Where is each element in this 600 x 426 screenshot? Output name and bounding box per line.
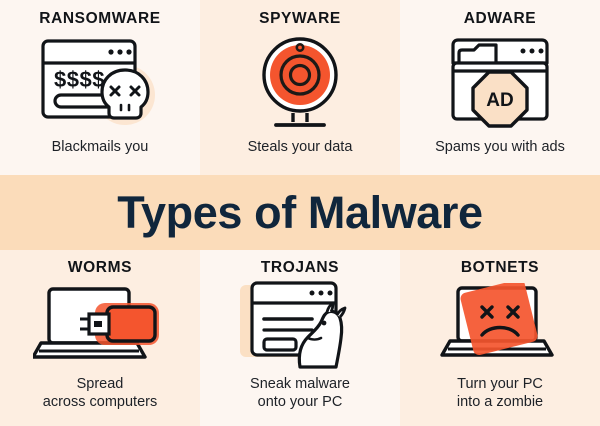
webcam-icon bbox=[200, 27, 400, 140]
caption-line-1: Sneak malware bbox=[250, 376, 350, 392]
card-caption: Turn your PC into a zombie bbox=[451, 376, 549, 412]
top-row: RANSOMWARE $$$$ bbox=[0, 0, 600, 175]
caption-line-2: across computers bbox=[43, 394, 157, 410]
card-adware: ADWARE AD Spams you with ads bbox=[400, 0, 600, 175]
card-ransomware: RANSOMWARE $$$$ bbox=[0, 0, 200, 175]
caption-line-1: Turn your PC bbox=[457, 376, 543, 392]
card-title: RANSOMWARE bbox=[39, 11, 160, 27]
browser-trojan-horse-icon bbox=[200, 276, 400, 377]
title-band: Types of Malware bbox=[0, 175, 600, 250]
card-title: ADWARE bbox=[464, 11, 537, 27]
card-trojans: TROJANS bbox=[200, 250, 400, 426]
page-title: Types of Malware bbox=[117, 190, 482, 235]
card-title: WORMS bbox=[68, 260, 132, 276]
card-caption: Sneak malware onto your PC bbox=[244, 376, 356, 412]
card-title: SPYWARE bbox=[259, 11, 341, 27]
caption-line-2: into a zombie bbox=[457, 394, 543, 410]
caption-line-1: Spread bbox=[77, 376, 124, 392]
bottom-row: WORMS Spread bbox=[0, 250, 600, 426]
card-worms: WORMS Spread bbox=[0, 250, 200, 426]
card-spyware: SPYWARE Steals your data bbox=[200, 0, 400, 175]
browser-money-skull-icon: $$$$ bbox=[0, 27, 200, 140]
card-caption: Steals your data bbox=[242, 139, 359, 157]
laptop-usb-drive-icon bbox=[0, 276, 200, 377]
laptop-sad-face-icon bbox=[400, 276, 600, 377]
card-caption: Blackmails you bbox=[46, 139, 155, 157]
ad-badge-label: AD bbox=[486, 90, 513, 111]
card-caption: Spams you with ads bbox=[429, 139, 571, 157]
card-title: TROJANS bbox=[261, 260, 339, 276]
caption-line-2: onto your PC bbox=[258, 394, 343, 410]
malware-types-infographic: RANSOMWARE $$$$ bbox=[0, 0, 600, 426]
card-title: BOTNETS bbox=[461, 260, 539, 276]
card-botnets: BOTNETS bbox=[400, 250, 600, 426]
card-caption: Spread across computers bbox=[37, 376, 163, 412]
money-label: $$$$ bbox=[54, 67, 105, 92]
browser-ad-octagon-icon: AD bbox=[400, 27, 600, 140]
